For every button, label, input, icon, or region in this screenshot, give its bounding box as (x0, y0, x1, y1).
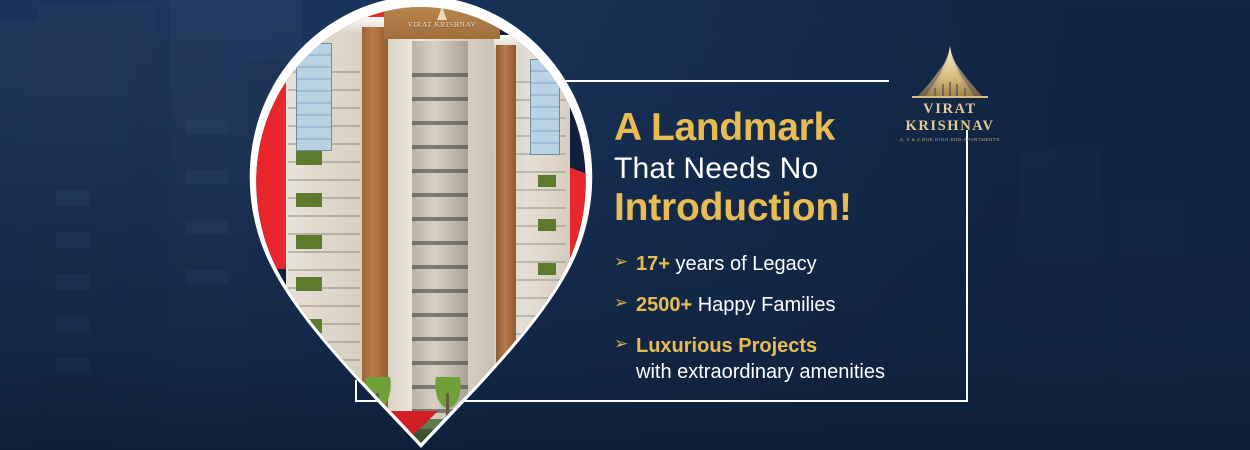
background-window (56, 316, 90, 332)
tower-spire-icon (882, 44, 1018, 100)
list-item: ➢ 2500+ Happy Families (614, 292, 1034, 318)
list-item: ➢ 17+ years of Legacy (614, 251, 1034, 277)
background-window (186, 270, 228, 284)
building-photo: VIRAT KRISHNAV (252, 0, 590, 443)
list-item-text: 2500+ Happy Families (636, 292, 836, 318)
background-window (186, 220, 228, 234)
list-item-subtext: with extraordinary amenities (636, 359, 885, 385)
background-building (130, 34, 222, 450)
list-item-rest: years of Legacy (670, 253, 817, 275)
feature-list: ➢ 17+ years of Legacy ➢ 2500+ Happy Fami… (614, 251, 1034, 385)
building-green-panels (538, 175, 556, 305)
list-item-text: 17+ years of Legacy (636, 251, 817, 277)
arrow-bullet-icon: ➢ (614, 251, 636, 272)
building-wood-column (496, 45, 516, 405)
brand-logo[interactable]: VIRAT KRISHNAV 2, 3 & 4 BHK HIGH END APA… (882, 44, 1018, 142)
logo-name: VIRAT KRISHNAV (882, 101, 1018, 135)
background-building (0, 22, 110, 450)
list-item-text: Luxurious Projectswith extraordinary ame… (636, 333, 885, 385)
headline-line-2: That Needs No (614, 150, 1034, 188)
background-building (38, 4, 154, 450)
background-window (56, 358, 90, 374)
building-signage: VIRAT KRISHNAV (384, 21, 500, 29)
list-item: ➢ Luxurious Projectswith extraordinary a… (614, 333, 1034, 385)
arrow-bullet-icon: ➢ (614, 292, 636, 313)
arrow-bullet-icon: ➢ (614, 333, 636, 354)
background-window (56, 274, 90, 290)
background-window (186, 120, 228, 134)
building-wood-column (362, 27, 390, 419)
background-window (56, 232, 90, 248)
building-center-floors (412, 53, 468, 419)
list-item-highlight: 2500+ (636, 294, 692, 316)
background-window (186, 170, 228, 184)
headline-line-3: Introduction! (614, 188, 1034, 229)
logo-tagline: 2, 3 & 4 BHK HIGH END APARTMENTS (882, 137, 1018, 142)
list-item-highlight: Luxurious Projects (636, 335, 817, 357)
headline-block: A Landmark That Needs No Introduction! ➢… (614, 108, 1034, 385)
list-item-rest: Happy Families (692, 294, 835, 316)
list-item-highlight: 17+ (636, 253, 670, 275)
background-building (1120, 200, 1184, 450)
background-window (56, 190, 90, 206)
building-green-panels (296, 151, 322, 401)
frame-top-line (551, 80, 889, 82)
building-pin-graphic: VIRAT KRISHNAV (247, 0, 595, 450)
promo-banner: VIRAT KRISHNAV A Landmark That Needs No … (0, 0, 1250, 450)
